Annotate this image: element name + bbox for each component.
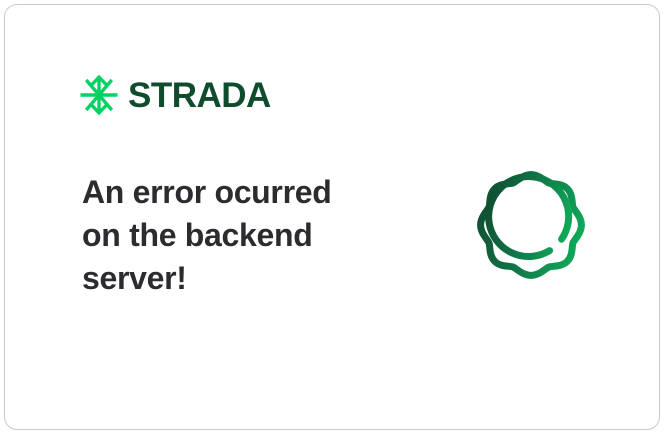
error-message: An error ocurred on the backend server!	[82, 171, 382, 300]
error-card: STRADA An error ocurred on the backend s…	[4, 4, 660, 430]
error-message-line: on the backend	[82, 214, 382, 257]
error-message-line: server!	[82, 257, 382, 300]
strada-starburst-icon	[79, 75, 119, 115]
error-message-line: An error ocurred	[82, 171, 382, 214]
brand-wordmark: STRADA	[128, 78, 271, 113]
brand-lockup: STRADA	[79, 75, 271, 115]
